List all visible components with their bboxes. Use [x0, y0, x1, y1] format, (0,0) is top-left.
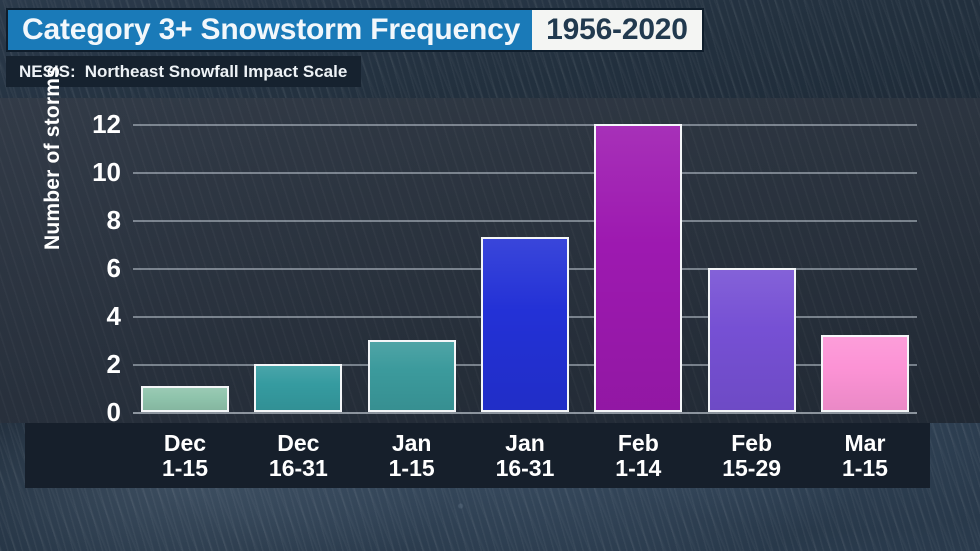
bar-series	[133, 124, 917, 412]
bar-slot	[364, 124, 460, 412]
bar-feb-15-29[interactable]	[708, 268, 796, 412]
x-tick-label: Jan16-31	[477, 431, 573, 480]
bar-slot	[250, 124, 346, 412]
x-tick-month: Dec	[277, 430, 319, 456]
plot-area: 024681012	[133, 124, 917, 412]
gridline-0: 0	[133, 412, 917, 414]
y-tick-label: 8	[107, 207, 121, 233]
x-tick-month: Dec	[164, 430, 206, 456]
bar-slot	[137, 124, 233, 412]
x-tick-month: Feb	[618, 430, 659, 456]
bar-sheen	[823, 337, 907, 410]
x-tick-month: Mar	[845, 430, 886, 456]
x-tick-label: Dec1-15	[137, 431, 233, 480]
x-tick-month: Jan	[392, 430, 432, 456]
bar-sheen	[256, 366, 340, 410]
x-tick-days: 1-15	[364, 456, 460, 480]
weather-graphic: Category 3+ Snowstorm Frequency 1956-202…	[0, 0, 980, 551]
bar-jan-1-15[interactable]	[368, 340, 456, 412]
x-tick-label: Mar1-15	[817, 431, 913, 480]
title-bar: Category 3+ Snowstorm Frequency 1956-202…	[6, 8, 704, 52]
x-tick-days: 15-29	[704, 456, 800, 480]
x-tick-days: 16-31	[477, 456, 573, 480]
x-tick-days: 1-15	[137, 456, 233, 480]
x-tick-month: Feb	[731, 430, 772, 456]
bar-dec-1-15[interactable]	[141, 386, 229, 412]
x-tick-days: 16-31	[250, 456, 346, 480]
bar-sheen	[143, 388, 227, 410]
bar-sheen	[370, 342, 454, 410]
x-tick-label: Feb1-14	[590, 431, 686, 480]
x-tick-days: 1-15	[817, 456, 913, 480]
bar-slot	[817, 124, 913, 412]
year-range-badge: 1956-2020	[532, 10, 702, 50]
x-tick-label: Feb15-29	[704, 431, 800, 480]
y-tick-label: 6	[107, 255, 121, 281]
bar-jan-16-31[interactable]	[481, 237, 569, 412]
x-tick-month: Jan	[505, 430, 545, 456]
y-tick-label: 12	[92, 111, 121, 137]
bar-slot	[590, 124, 686, 412]
page-title: Category 3+ Snowstorm Frequency	[8, 10, 532, 50]
bar-feb-1-14[interactable]	[594, 124, 682, 412]
x-tick-label: Jan1-15	[364, 431, 460, 480]
y-tick-label: 4	[107, 303, 121, 329]
y-tick-label: 10	[92, 159, 121, 185]
bar-slot	[704, 124, 800, 412]
bar-sheen	[710, 270, 794, 410]
subtitle-text: Northeast Snowfall Impact Scale	[85, 62, 348, 82]
x-axis-tick-labels: Dec1-15Dec16-31Jan1-15Jan16-31Feb1-14Feb…	[133, 423, 917, 488]
x-tick-days: 1-14	[590, 456, 686, 480]
y-tick-label: 0	[107, 399, 121, 425]
bar-sheen	[596, 126, 680, 410]
bar-slot	[477, 124, 573, 412]
x-tick-label: Dec16-31	[250, 431, 346, 480]
bar-sheen	[483, 239, 567, 410]
y-axis-title: Number of storms	[41, 43, 65, 273]
y-tick-label: 2	[107, 351, 121, 377]
bar-dec-16-31[interactable]	[254, 364, 342, 412]
bar-mar-1-15[interactable]	[821, 335, 909, 412]
